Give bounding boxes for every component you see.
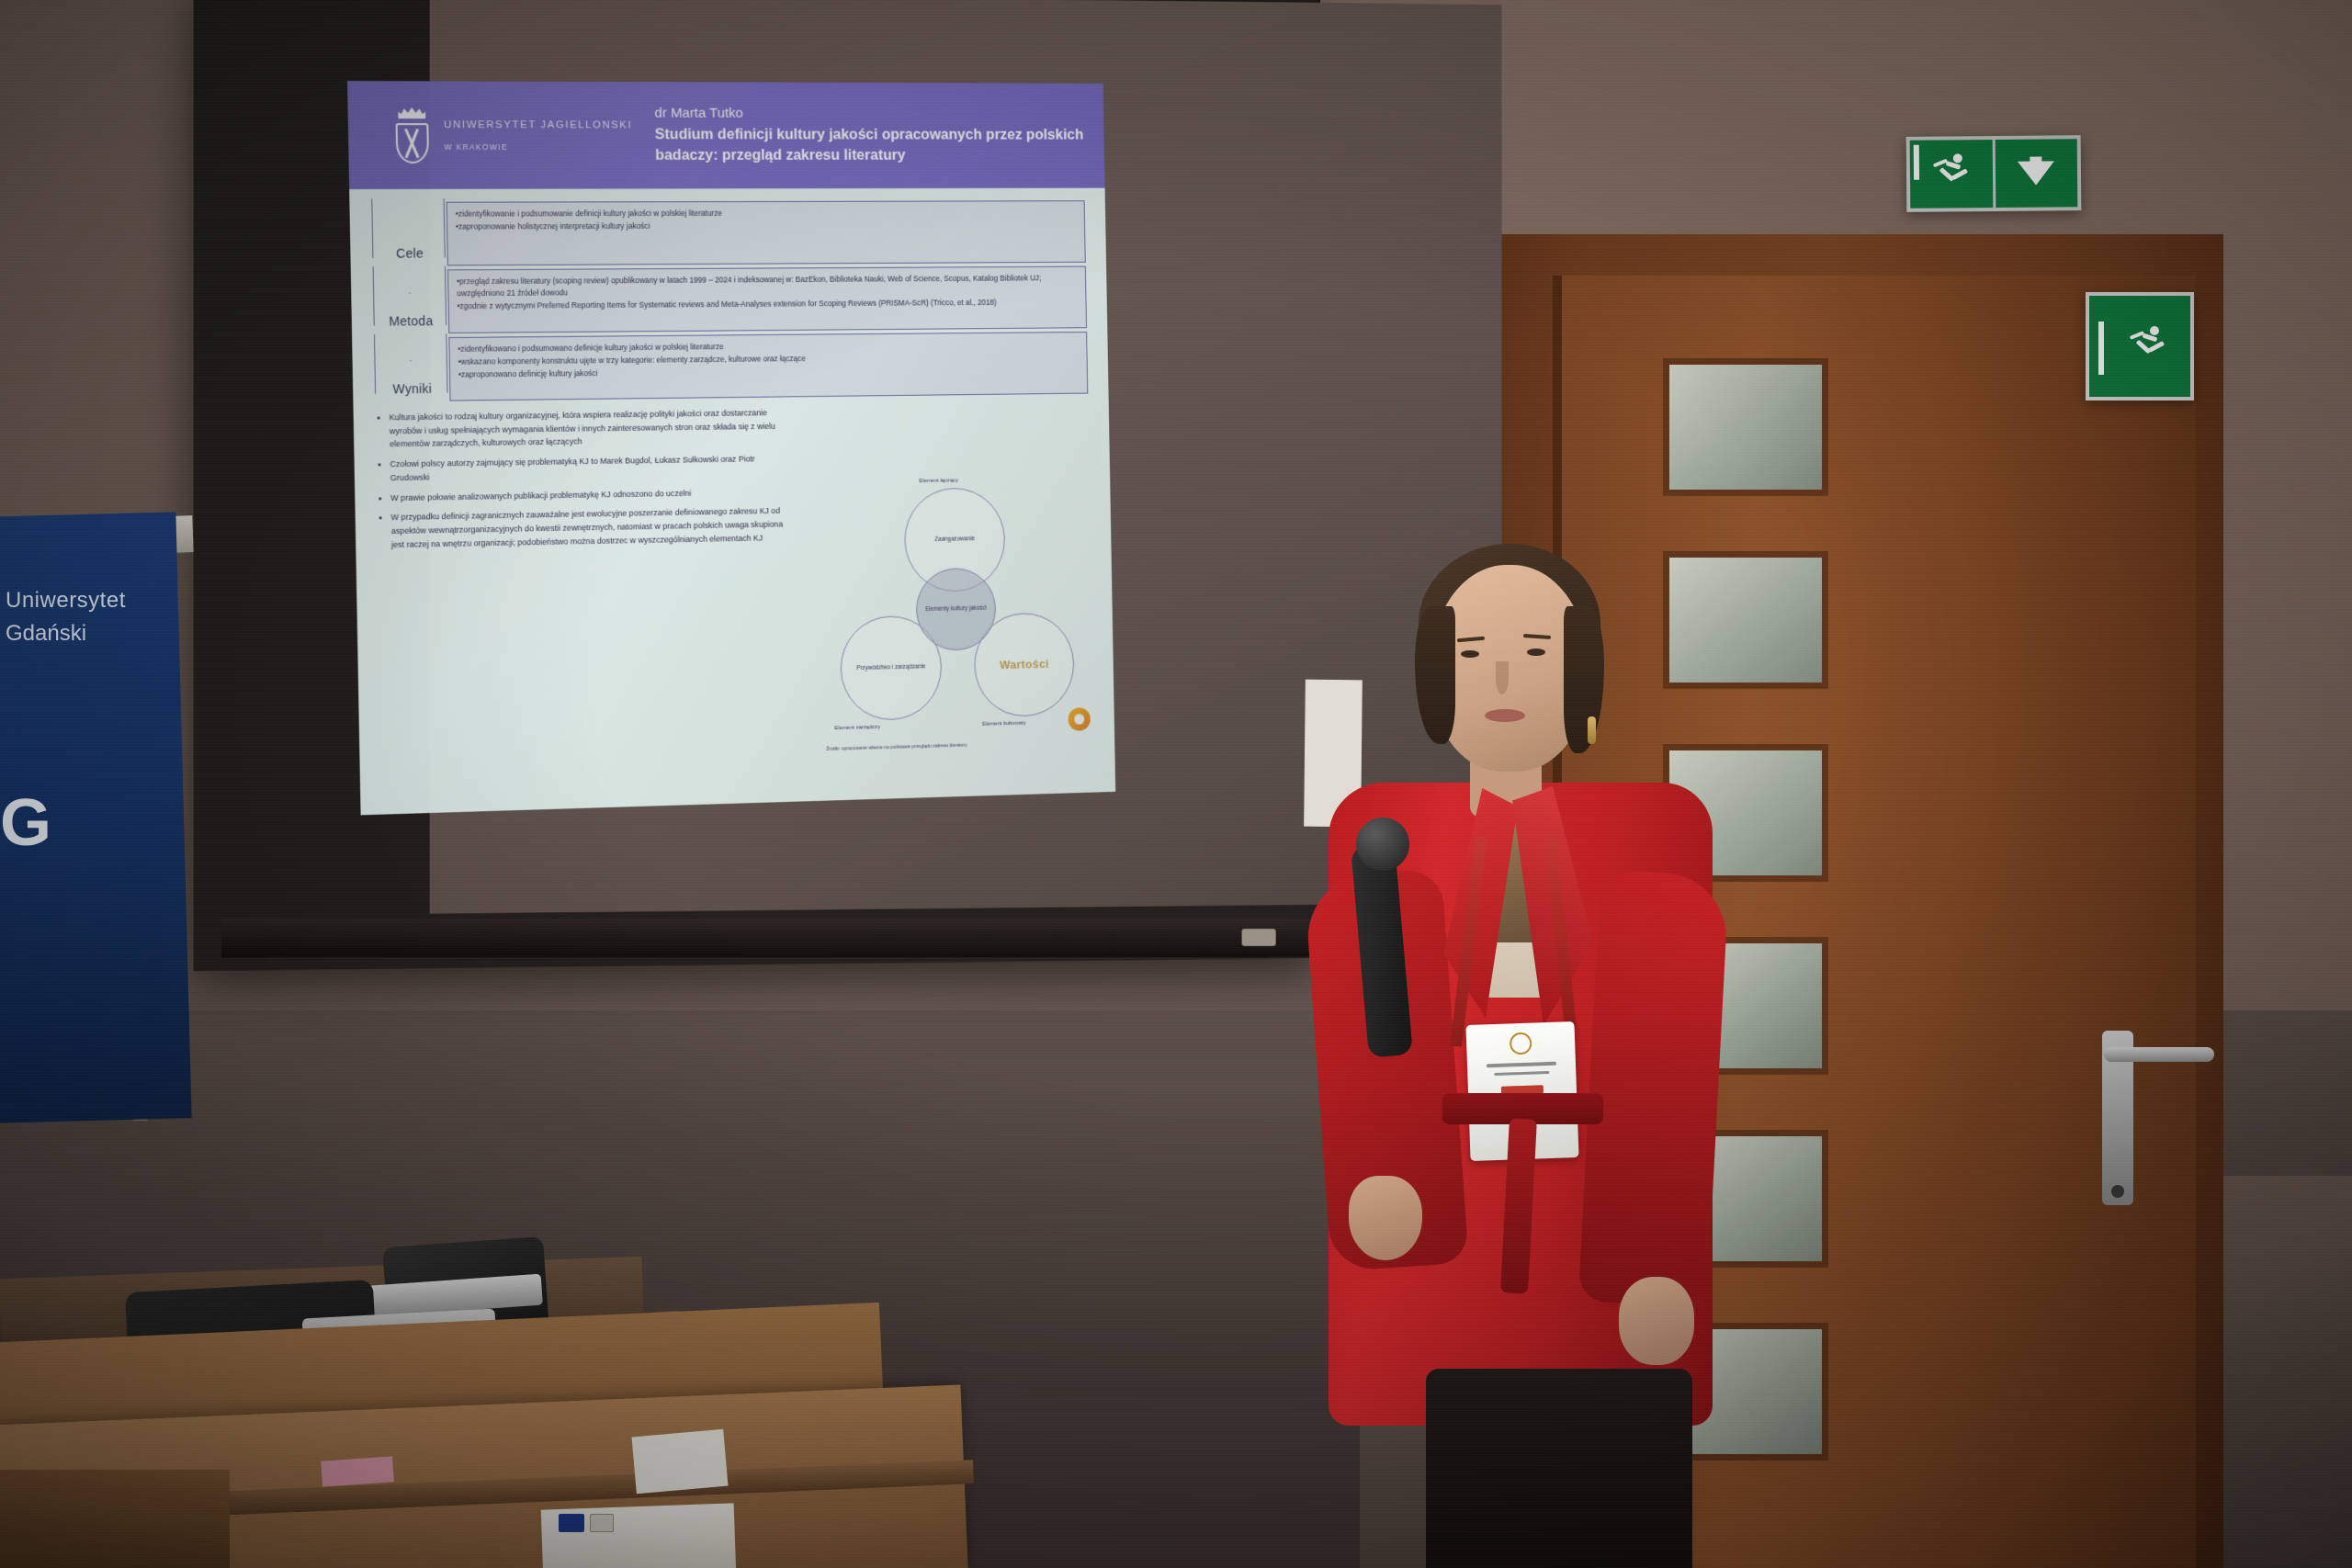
badge-logo-icon [1510, 1032, 1532, 1055]
presenter-hand-holding-microphone [1349, 1176, 1422, 1260]
presenter-eye-left [1461, 650, 1479, 658]
conference-logo-icon [1068, 707, 1091, 731]
slide-body: Cele •zidentyfikowanie i podsumowanie de… [349, 188, 1111, 553]
presenter [1323, 542, 1718, 1568]
list-item: Czołowi polscy autorzy zajmujący się pro… [374, 452, 795, 485]
emergency-exit-sign [1906, 135, 2082, 212]
process-step-wyniki: Wyniki •zidentyfikowano i podsumowano de… [372, 332, 1088, 402]
eu-flag-sticker-icon [559, 1514, 584, 1532]
slide-header: UNIWERSYTET JAGIELLONSKI W KRAKOWIE dr M… [347, 81, 1105, 189]
diagram-label-left: Element zarządczy [834, 724, 880, 731]
presenter-hand-right [1619, 1277, 1694, 1365]
banner-text-line1: Uniwersytet [6, 588, 153, 614]
projection-screen-bottom-bar [221, 919, 1314, 958]
banner-text-line2: Gdański [6, 621, 162, 647]
jagiellonian-crest-icon [388, 105, 436, 165]
diagram-circle-right-label: Wartości [992, 657, 1056, 673]
earring [1588, 716, 1596, 744]
slide-title-line1: Studium definicji kultury jakości opraco… [655, 125, 1084, 145]
desk-side-panel [0, 1470, 230, 1568]
list-item: W prawie połowie analizowanych publikacj… [375, 485, 796, 505]
process-bullets-cele: •zidentyfikowanie i podsumowanie definic… [447, 200, 1086, 265]
projected-slide: UNIWERSYTET JAGIELLONSKI W KRAKOWIE dr M… [347, 81, 1115, 815]
pink-sticky-note [321, 1456, 394, 1486]
slide-author: dr Marta Tutko [654, 106, 1083, 122]
paper-sheet [631, 1429, 728, 1494]
presenter-nose [1496, 661, 1509, 694]
process-bullets-metoda: •przegląd zakresu literatury (scoping re… [447, 266, 1087, 333]
banner-large-letter: G [0, 785, 51, 861]
bullet: •przegląd zakresu literatury (scoping re… [457, 272, 1078, 299]
door-keyhole-icon [2111, 1185, 2124, 1198]
diagram-label-top: Element łączący [919, 478, 958, 484]
diagram-circle-center-label: Elementy kultury jakości [919, 604, 994, 614]
screen-pull-knob[interactable] [1242, 929, 1276, 946]
emergency-exit-sign-secondary [2086, 292, 2194, 400]
presenter-eye-right [1527, 649, 1545, 656]
microphone-head-icon [1356, 818, 1409, 871]
process-bullets-wyniki: •zidentyfikowano i podsumowano definicje… [448, 332, 1088, 401]
door-handle[interactable] [2104, 1047, 2214, 1062]
chevron-shape-metoda: Metoda [371, 269, 451, 333]
bullet: •zidentyfikowanie i podsumowanie definic… [456, 207, 1077, 220]
list-item: W przypadku definicji zagranicznych zauw… [375, 504, 796, 552]
bullet: •zaproponowanie holistycznej interpretac… [456, 220, 1077, 233]
black-skirt [1426, 1369, 1692, 1568]
logo-sticker-icon [590, 1514, 614, 1532]
badge-text-line [1487, 1062, 1556, 1067]
university-name-line1: UNIWERSYTET JAGIELLONSKI [444, 118, 632, 133]
running-man-icon [1929, 152, 1973, 196]
exit-door-bar-icon [1914, 145, 1919, 180]
process-label-metoda: Metoda [389, 313, 433, 333]
presenter-hair-right [1564, 606, 1604, 753]
door-glass-panel [1663, 358, 1828, 496]
diagram-source-note: Źródło: opracowanie własne na podstawie … [826, 739, 1094, 753]
list-item: Kultura jakości to rodzaj kultury organi… [373, 406, 794, 452]
running-man-icon [2126, 324, 2170, 368]
diagram-label-right: Element kulturowy [982, 720, 1025, 728]
exit-running-man-icon [1910, 140, 1993, 209]
exit-direction-arrow-icon [1995, 139, 2077, 208]
slide-title-block: dr Marta Tutko Studium definicji kultury… [654, 106, 1084, 165]
presenter-mouth [1485, 709, 1525, 722]
badge-text-line [1495, 1070, 1549, 1076]
university-logo: UNIWERSYTET JAGIELLONSKI W KRAKOWIE [388, 105, 633, 165]
slide-conclusion-bullets: Kultura jakości to rodzaj kultury organi… [373, 406, 796, 552]
chevron-shape-cele: Cele [369, 202, 449, 266]
diagram-circle-left-label: Przywództwo i zarządzanie [850, 663, 933, 673]
process-step-cele: Cele •zidentyfikowanie i podsumowanie de… [369, 200, 1085, 266]
conference-room-photo: UNIWERSYTET JAGIELLONSKI W KRAKOWIE dr M… [0, 0, 2352, 1568]
diagram-circle-top-label: Zaangażowanie [928, 536, 982, 544]
presenter-right-arm [1578, 870, 1729, 1308]
presenter-hair-left [1415, 606, 1455, 744]
quality-culture-diagram: Element łączący Zaangażowanie Przywództw… [813, 480, 1103, 781]
exit-door-bar-icon [2098, 321, 2104, 375]
process-label-cele: Cele [396, 246, 424, 266]
university-name-line2: W KRAKOWIE [444, 141, 632, 153]
process-label-wyniki: Wyniki [392, 381, 432, 401]
process-step-metoda: Metoda •przegląd zakresu literatury (sco… [371, 266, 1087, 334]
chevron-shape-wyniki: Wyniki [372, 337, 452, 402]
slide-title-line2: badaczy: przegląd zakresu literatury [655, 145, 1084, 165]
paper-handout [541, 1503, 737, 1568]
